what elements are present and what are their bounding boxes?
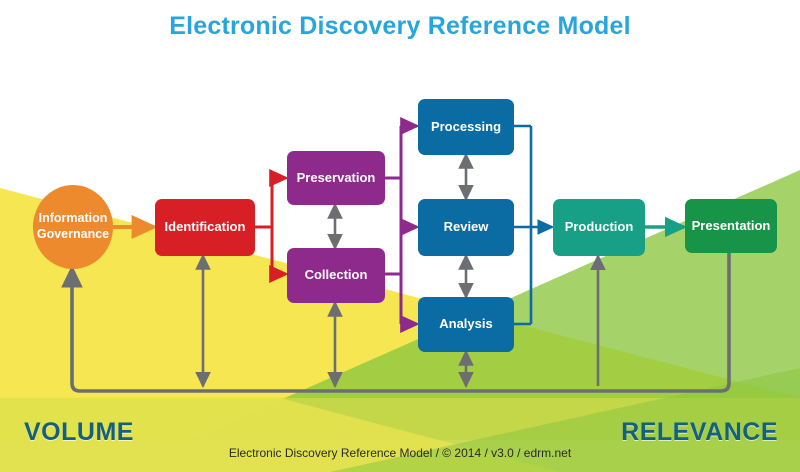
background-wedges [0,0,800,472]
node-presentation[interactable]: Presentation [685,199,777,253]
node-information-governance[interactable]: Information Governance [33,185,113,269]
node-processing[interactable]: Processing [418,99,514,155]
axis-label-relevance: RELEVANCE [621,418,778,447]
node-collection[interactable]: Collection [287,248,385,303]
node-production[interactable]: Production [553,199,645,256]
node-review[interactable]: Review [418,199,514,256]
diagram-title: Electronic Discovery Reference Model [0,12,800,41]
axis-label-volume: VOLUME [24,418,134,447]
edrm-diagram: Electronic Discovery Reference Model Inf… [0,0,800,472]
diagram-footer: Electronic Discovery Reference Model / ©… [0,446,800,460]
node-identification[interactable]: Identification [155,199,255,256]
node-analysis[interactable]: Analysis [418,297,514,352]
node-preservation[interactable]: Preservation [287,151,385,205]
